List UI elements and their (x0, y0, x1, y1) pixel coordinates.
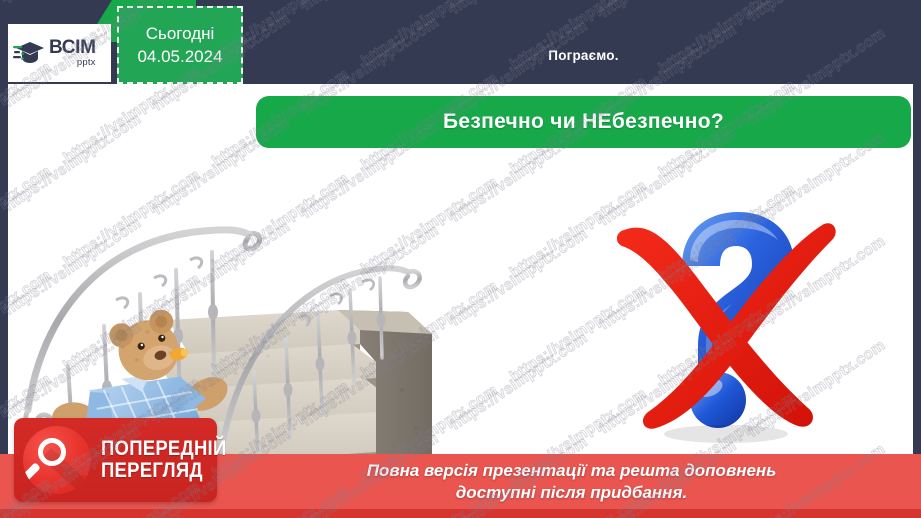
page-title: Пограємо. (256, 26, 911, 84)
date-badge-value: 04.05.2024 (137, 47, 222, 67)
preview-badge-line-2: ПЕРЕГЛЯД (101, 460, 226, 482)
question-mark-crossed-out-graphic (586, 194, 866, 454)
preview-badge[interactable]: ПОПЕРЕДНІЙ ПЕРЕГЛЯД (14, 418, 217, 502)
logo-title: ВСІМ (49, 38, 96, 57)
slide-header-bar: Пограємо. (256, 26, 911, 84)
graduation-cap-icon (13, 38, 47, 68)
question-banner: Безпечно чи НЕбезпечно? (256, 96, 911, 148)
footer-line-1: Повна версія презентації та решта доповн… (367, 460, 777, 482)
question-banner-text: Безпечно чи НЕбезпечно? (443, 110, 724, 134)
vsim-pptx-logo[interactable]: ВСІМ pptx (8, 24, 111, 82)
logo-subtitle: pptx (49, 58, 96, 68)
date-badge-label: Сьогодні (146, 24, 215, 44)
header-divider (256, 84, 911, 89)
footer-message: Повна версія презентації та решта доповн… (222, 456, 921, 508)
magnifier-icon (23, 426, 91, 494)
footer-line-2: доступні після придбання. (456, 482, 687, 504)
preview-badge-line-1: ПОПЕРЕДНІЙ (101, 438, 226, 460)
presentation-slide: Пограємо. Безпечно чи НЕбезпечно? ВСІМ p… (0, 0, 921, 518)
date-badge: Сьогодні 04.05.2024 (117, 6, 243, 84)
footer-accent-strip (0, 509, 921, 518)
